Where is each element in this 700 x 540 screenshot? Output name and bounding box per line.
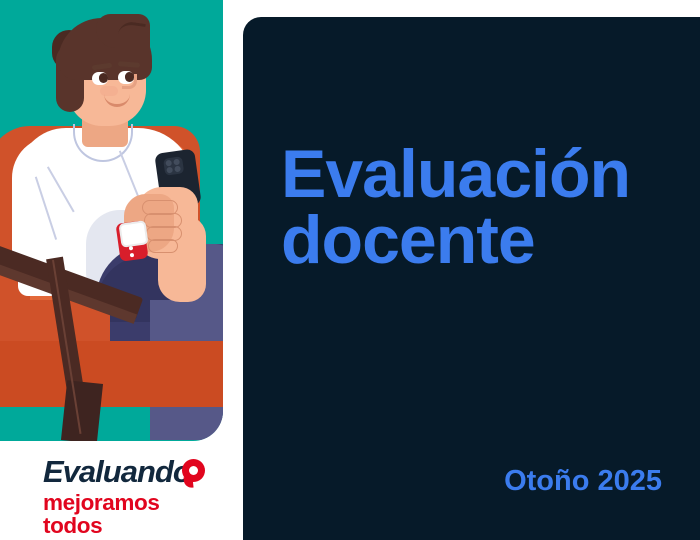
illustration-artwork <box>0 0 223 441</box>
pupil-left-shape <box>99 73 108 83</box>
illustration-panel <box>0 0 223 441</box>
camera-lens <box>173 159 180 166</box>
table-foot <box>61 380 103 441</box>
brand-logo[interactable]: Evaluando mejoramos todos <box>43 456 218 518</box>
smartwatch-stud <box>130 253 135 258</box>
page-title-line-2: docente <box>281 208 681 274</box>
camera-lens <box>166 167 173 174</box>
finger-line <box>148 239 178 253</box>
camera-lens <box>174 166 181 173</box>
camera-lens <box>165 160 172 167</box>
armchair-seat-shape <box>0 341 223 407</box>
logo-tagline: mejoramos todos <box>43 492 218 537</box>
speech-bubble-icon <box>182 459 205 482</box>
poster-canvas: Evaluando mejoramos todos Evaluación doc… <box>0 0 700 540</box>
speech-bubble-counter <box>189 466 198 475</box>
page-title: Evaluación docente <box>281 142 681 274</box>
content-panel: Evaluación docente Otoño 2025 <box>243 17 700 540</box>
smartwatch-face <box>118 220 148 248</box>
phone-camera-module <box>163 156 184 175</box>
page-title-line-1: Evaluación <box>281 142 681 208</box>
season-label: Otoño 2025 <box>504 465 662 498</box>
